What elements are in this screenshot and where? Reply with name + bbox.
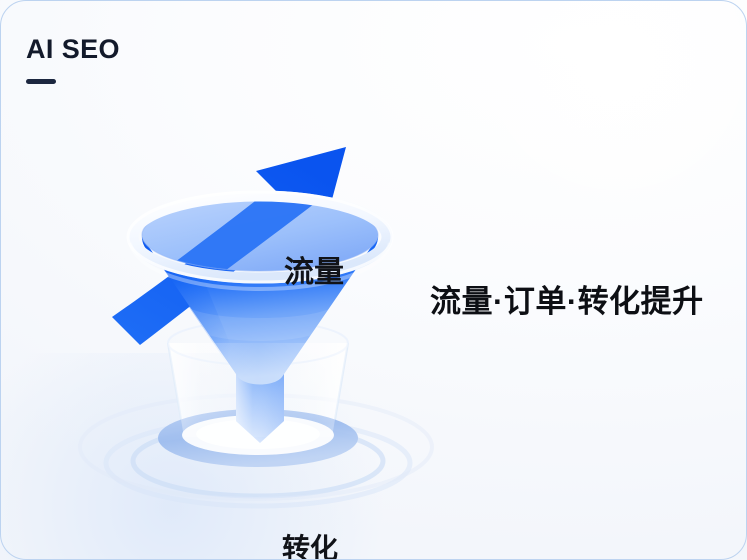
funnel-label-conversion: 转化: [282, 527, 338, 560]
title-underline-accent: [26, 79, 56, 84]
page-title: AI SEO: [26, 36, 120, 63]
tagline-text: 流量·订单·转化提升: [430, 276, 704, 321]
conversion-funnel-illustration: 流量 转化: [60, 95, 460, 535]
beaker-front-glass: [168, 343, 348, 437]
slide-canvas: AI SEO 流量·订单·转化提升: [0, 0, 747, 560]
heading-block: AI SEO: [26, 36, 120, 84]
funnel-label-traffic: 流量: [284, 247, 344, 291]
background-glow-top-right: [411, 0, 747, 202]
